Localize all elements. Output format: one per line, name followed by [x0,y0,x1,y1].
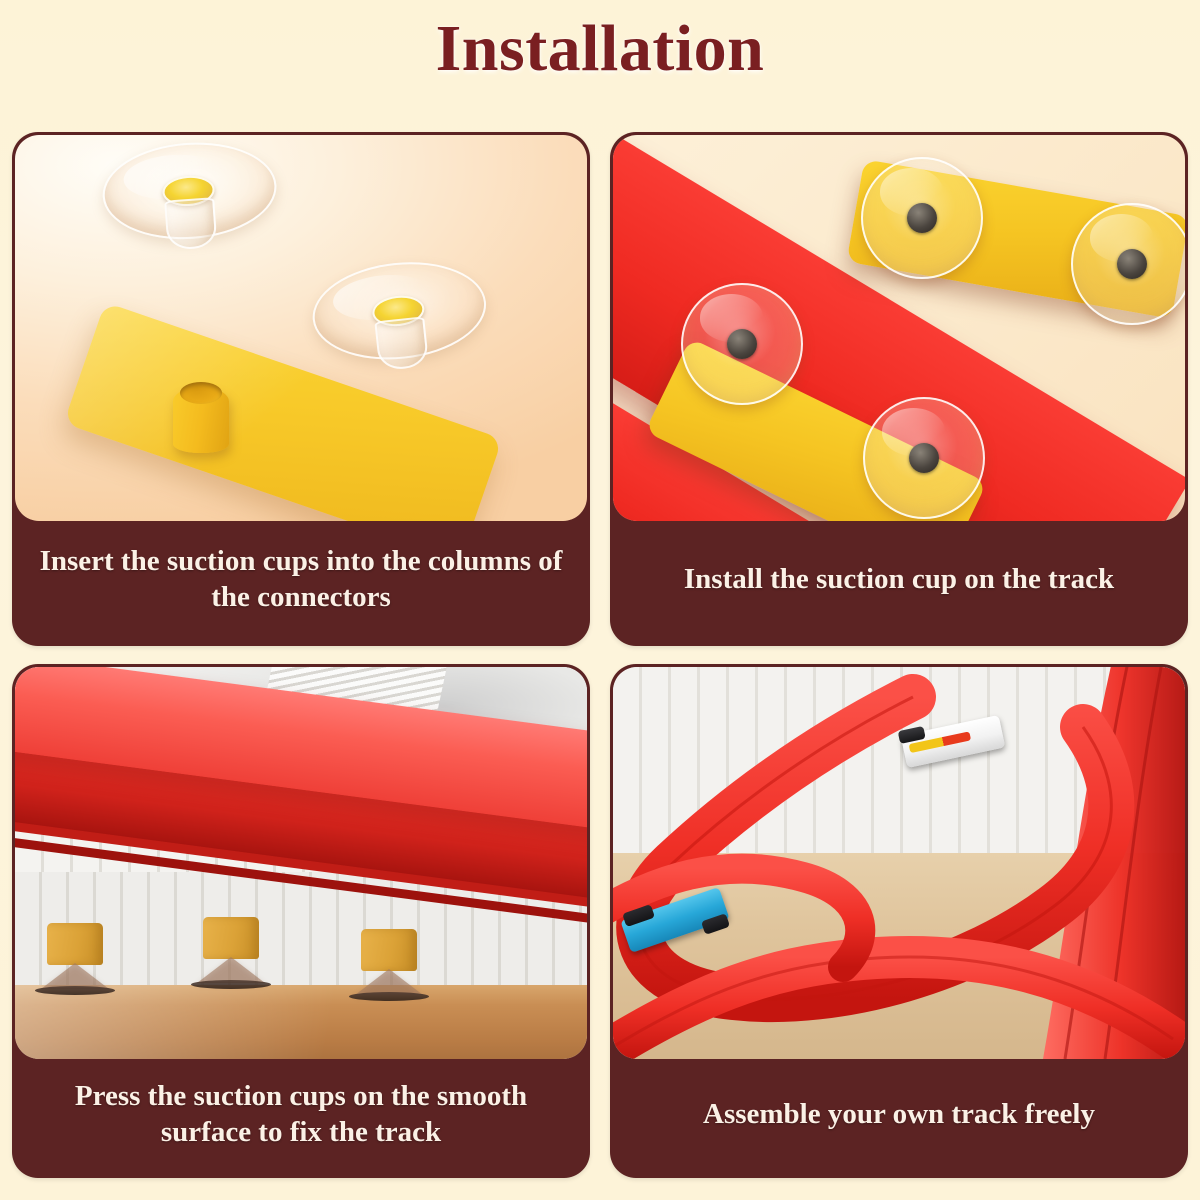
yellow-column-stub [203,917,259,959]
step-4-image [613,667,1185,1059]
step-1-image [15,135,587,521]
connector-column-left [173,387,229,453]
yellow-column-stub [361,929,417,971]
step-panel-1: Insert the suction cups into the columns… [12,132,590,646]
suction-cup-contact-disc [349,992,429,1001]
step-1-caption: Insert the suction cups into the columns… [12,521,590,646]
suction-cup-upper [99,137,276,257]
suction-cup-foot [41,923,109,985]
step-3-caption: Press the suction cups on the smooth sur… [12,1059,590,1178]
page-title: Installation [0,16,1200,82]
scene-assembled-track [613,667,1185,1059]
table-surface [15,985,587,1059]
scene-track-on-table [15,667,587,1059]
step-panel-4: Assemble your own track freely [610,664,1188,1178]
suction-cup-foot [197,917,265,979]
suction-cup-stem [374,316,429,371]
suction-cup-contact-disc [191,980,271,989]
step-3-image [15,667,587,1059]
looping-track-svg [613,667,1185,1059]
mounted-suction-cup [863,397,985,519]
column-bore [180,382,222,404]
mounted-suction-cup [1071,203,1185,325]
step-4-caption: Assemble your own track freely [610,1059,1188,1178]
installation-infographic: Installation [0,0,1200,1200]
suction-cup-contact-disc [35,986,115,995]
suction-cup-stem [164,197,217,250]
steps-grid: Insert the suction cups into the columns… [12,132,1188,1192]
step-panel-3: Press the suction cups on the smooth sur… [12,664,590,1178]
mounted-suction-cup [861,157,983,279]
step-2-caption: Install the suction cup on the track [610,521,1188,646]
step-panel-2: Install the suction cup on the track [610,132,1188,646]
scene-connector-and-cups [15,135,587,521]
scene-cups-on-track [613,135,1185,521]
suction-cup-foot [355,929,423,991]
yellow-column-stub [47,923,103,965]
suction-cup-lower [308,254,488,379]
step-2-image [613,135,1185,521]
mounted-suction-cup [681,283,803,405]
